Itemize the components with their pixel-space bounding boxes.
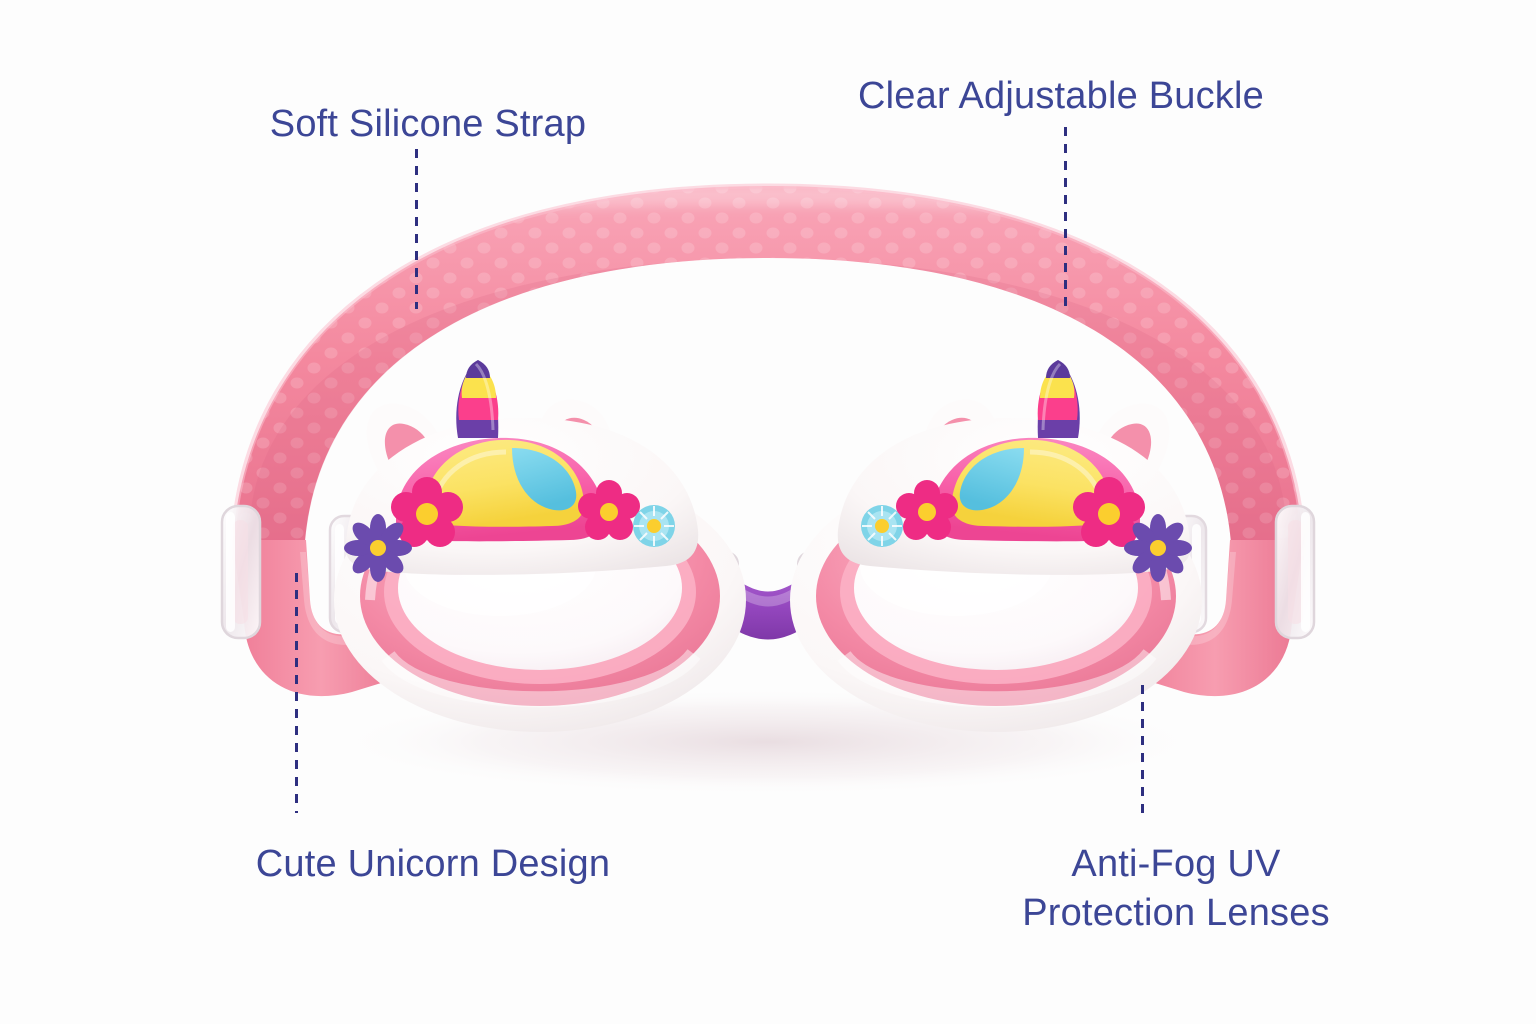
right-flower-blue-daisy xyxy=(861,505,903,547)
right-flower-purple xyxy=(1124,514,1192,582)
left-unicorn-horn xyxy=(456,360,498,438)
connector-line-clear-adjustable-buckle xyxy=(1064,127,1067,307)
right-buckle xyxy=(1276,506,1314,638)
connector-line-anti-fog-uv-protection-lenses xyxy=(1141,685,1144,817)
left-flower-blue-daisy xyxy=(633,505,675,547)
infographic-canvas: Soft Silicone Strap Clear Adjustable Buc… xyxy=(0,0,1536,1024)
left-flower-purple xyxy=(344,514,412,582)
callout-label-soft-silicone-strap: Soft Silicone Strap xyxy=(243,100,613,149)
right-unicorn-decoration xyxy=(838,360,1192,582)
callout-label-cute-unicorn-design: Cute Unicorn Design xyxy=(228,840,638,889)
connector-line-cute-unicorn-design xyxy=(295,573,298,813)
left-unicorn-decoration xyxy=(344,360,698,582)
connector-line-soft-silicone-strap xyxy=(415,149,418,309)
right-unicorn-horn xyxy=(1038,360,1080,438)
callout-label-anti-fog-uv-protection-lenses: Anti-Fog UV Protection Lenses xyxy=(1016,840,1336,937)
left-buckle xyxy=(222,506,260,638)
callout-label-clear-adjustable-buckle: Clear Adjustable Buckle xyxy=(826,72,1296,121)
